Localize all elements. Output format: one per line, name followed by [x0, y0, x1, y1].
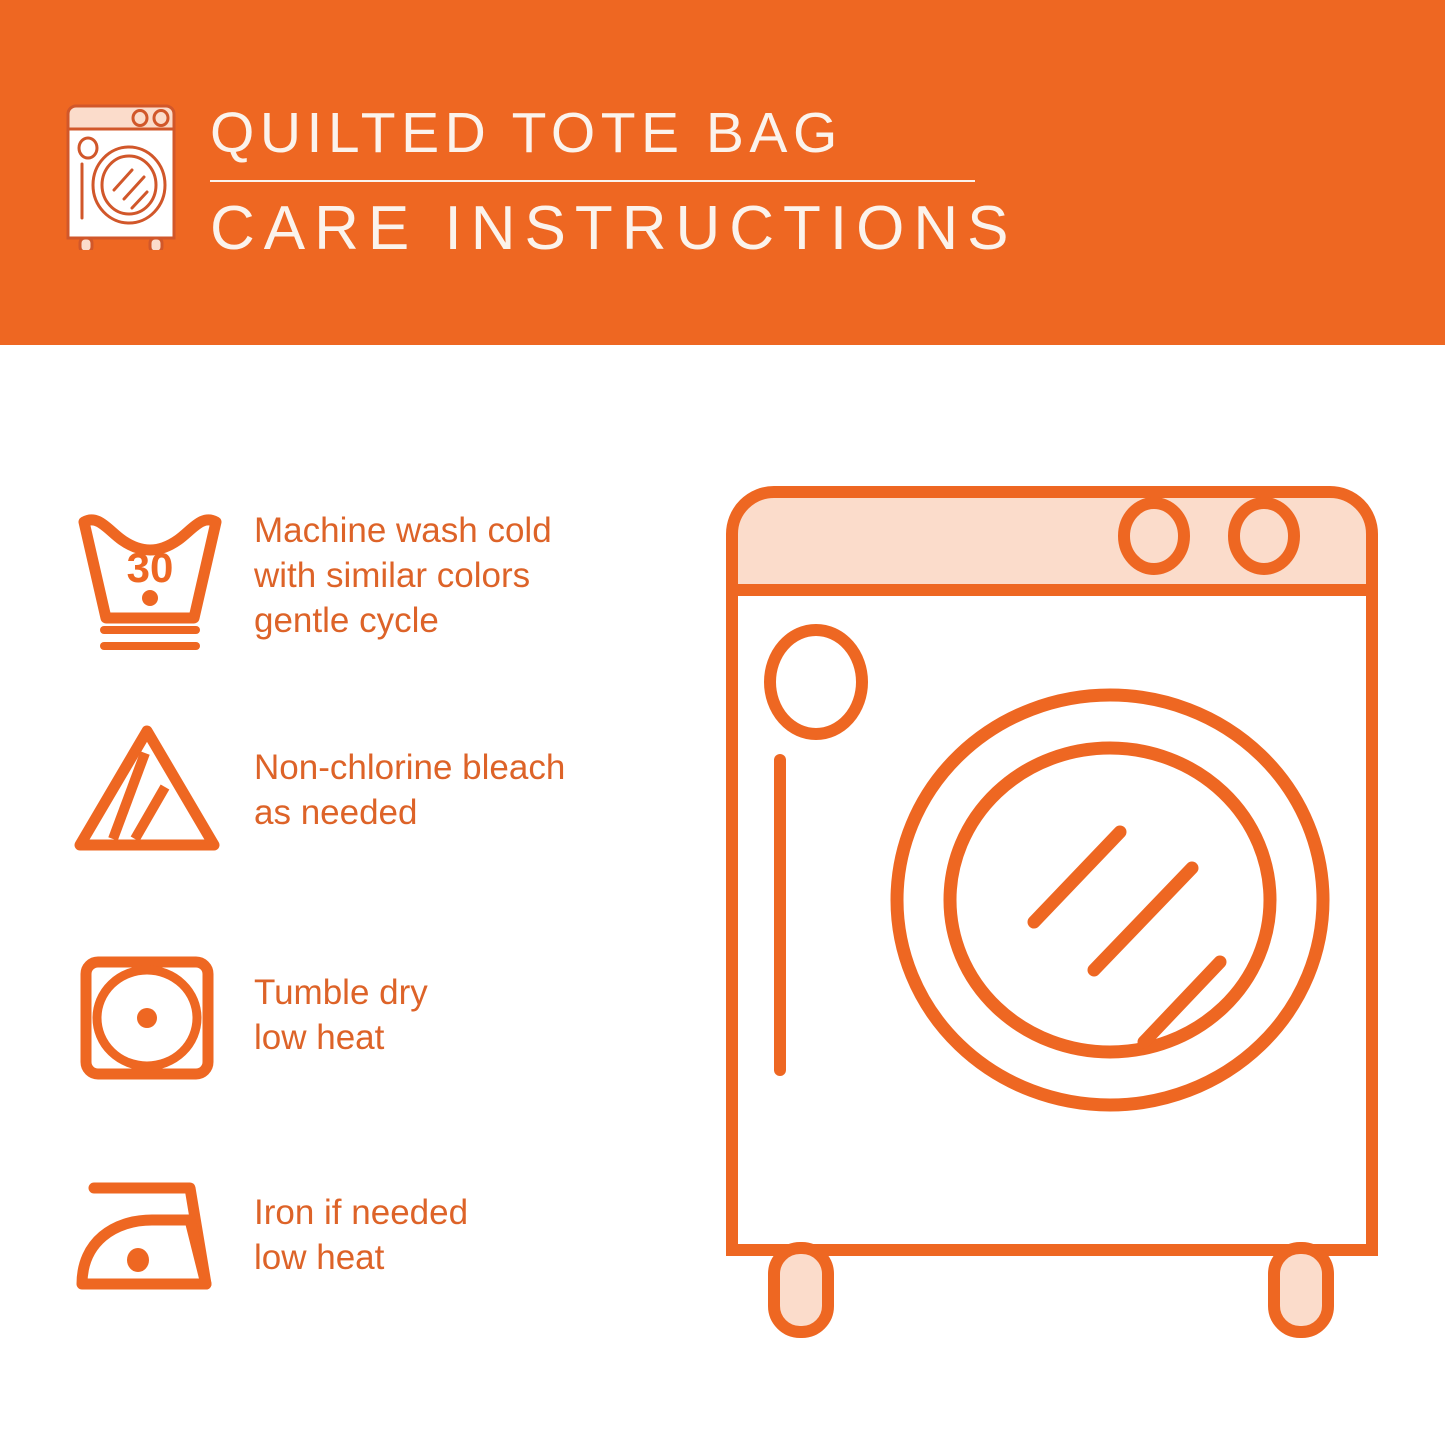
- page-subtitle: CARE INSTRUCTIONS: [210, 192, 1000, 266]
- header-title-block: QUILTED TOTE BAG CARE INSTRUCTIONS: [210, 98, 1000, 266]
- care-item-wash: 30 Machine wash cold with similar colors…: [0, 490, 700, 660]
- washing-machine-icon: [62, 100, 180, 250]
- non-chlorine-bleach-triangle-icon: [62, 705, 232, 875]
- iron-low-heat-icon: [62, 1150, 232, 1320]
- care-item-iron: Iron if needed low heat: [0, 1150, 700, 1320]
- care-item-wash-label: Machine wash cold with similar colors ge…: [254, 508, 552, 643]
- wash-temp-value: 30: [127, 544, 174, 591]
- page-title: QUILTED TOTE BAG: [210, 98, 1000, 168]
- title-divider: [210, 180, 975, 182]
- care-instructions-page: QUILTED TOTE BAG CARE INSTRUCTIONS 30: [0, 0, 1445, 1445]
- care-item-bleach-label: Non-chlorine bleach as needed: [254, 745, 565, 835]
- indicator-light: [770, 630, 862, 734]
- care-item-dry: Tumble dry low heat: [0, 930, 700, 1100]
- header-banner: QUILTED TOTE BAG CARE INSTRUCTIONS: [0, 0, 1445, 345]
- machine-leg: [774, 1248, 828, 1332]
- tumble-dry-low-icon: [62, 930, 232, 1100]
- washing-machine-illustration: [712, 470, 1412, 1370]
- knob: [1234, 503, 1294, 569]
- care-item-iron-label: Iron if needed low heat: [254, 1190, 468, 1280]
- knob: [1124, 503, 1184, 569]
- care-item-bleach: Non-chlorine bleach as needed: [0, 705, 700, 875]
- care-item-dry-label: Tumble dry low heat: [254, 970, 428, 1060]
- care-instruction-list: 30 Machine wash cold with similar colors…: [0, 345, 700, 1445]
- wash-tub-30-icon: 30: [62, 490, 232, 660]
- machine-leg: [1274, 1248, 1328, 1332]
